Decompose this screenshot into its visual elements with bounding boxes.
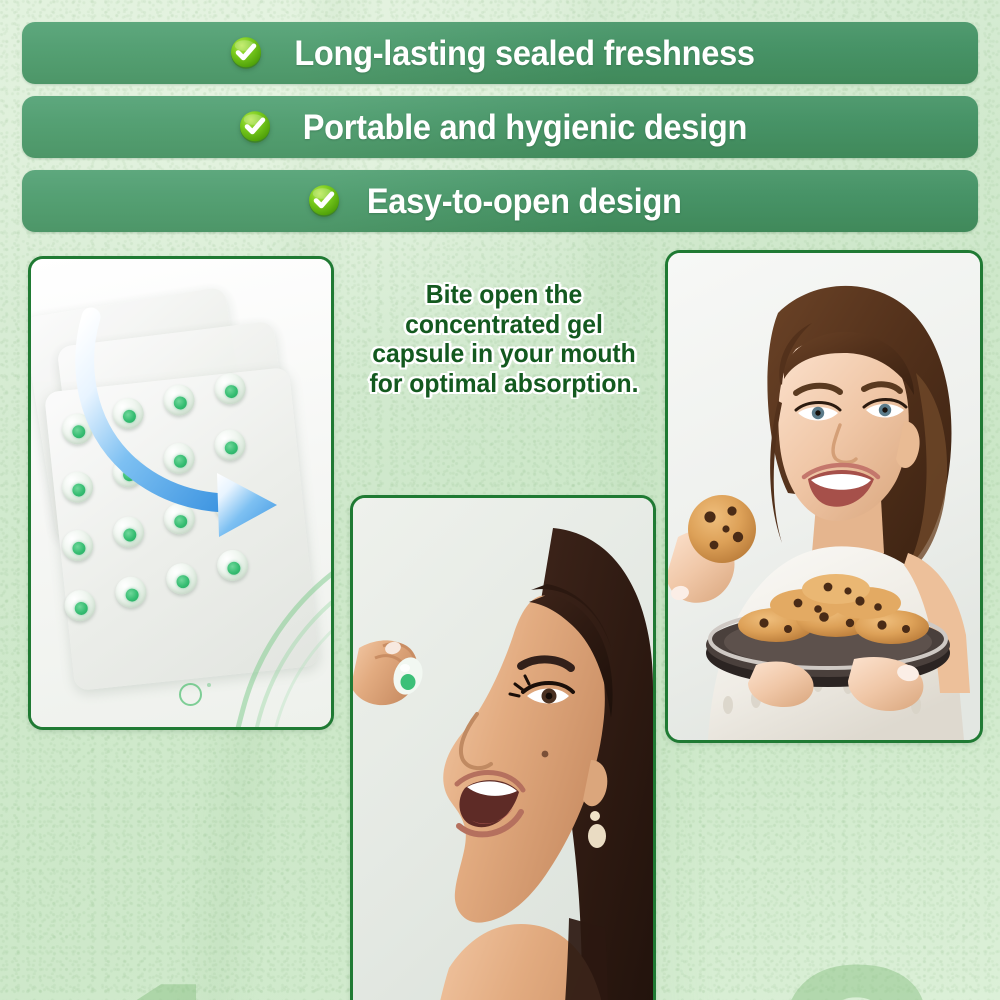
woman-with-cookies-photo bbox=[668, 253, 980, 740]
step-1-photo-card bbox=[28, 256, 334, 730]
feature-banner-label: Easy-to-open design bbox=[367, 184, 682, 219]
check-circle-icon bbox=[237, 109, 273, 145]
curved-arrow-icon bbox=[71, 307, 311, 537]
check-circle-icon bbox=[228, 35, 264, 71]
check-circle-icon bbox=[306, 183, 342, 219]
feature-banner-3: Easy-to-open design bbox=[22, 170, 978, 232]
feature-banner-2: Portable and hygienic design bbox=[22, 96, 978, 158]
step-number-watermark-1: 1 bbox=[96, 973, 242, 1000]
step-2-photo-card bbox=[350, 495, 656, 1000]
steps-area: 1 2 3 bbox=[0, 238, 1000, 1000]
green-swirl-decoration bbox=[173, 559, 334, 730]
infographic-stage: Long-lasting sealed freshness Portable a… bbox=[0, 0, 1000, 1000]
step-number-watermark-3: 3 bbox=[775, 953, 938, 1000]
feature-banner-label: Portable and hygienic design bbox=[302, 110, 746, 145]
feature-banner-1: Long-lasting sealed freshness bbox=[22, 22, 978, 84]
feature-banner-label: Long-lasting sealed freshness bbox=[294, 36, 754, 71]
woman-taking-capsule-photo bbox=[353, 498, 653, 1000]
step-3-photo-card bbox=[665, 250, 983, 743]
blister-pack-photo bbox=[31, 259, 331, 727]
step-2-caption: Bite open the concentrated gel capsule i… bbox=[362, 280, 647, 399]
